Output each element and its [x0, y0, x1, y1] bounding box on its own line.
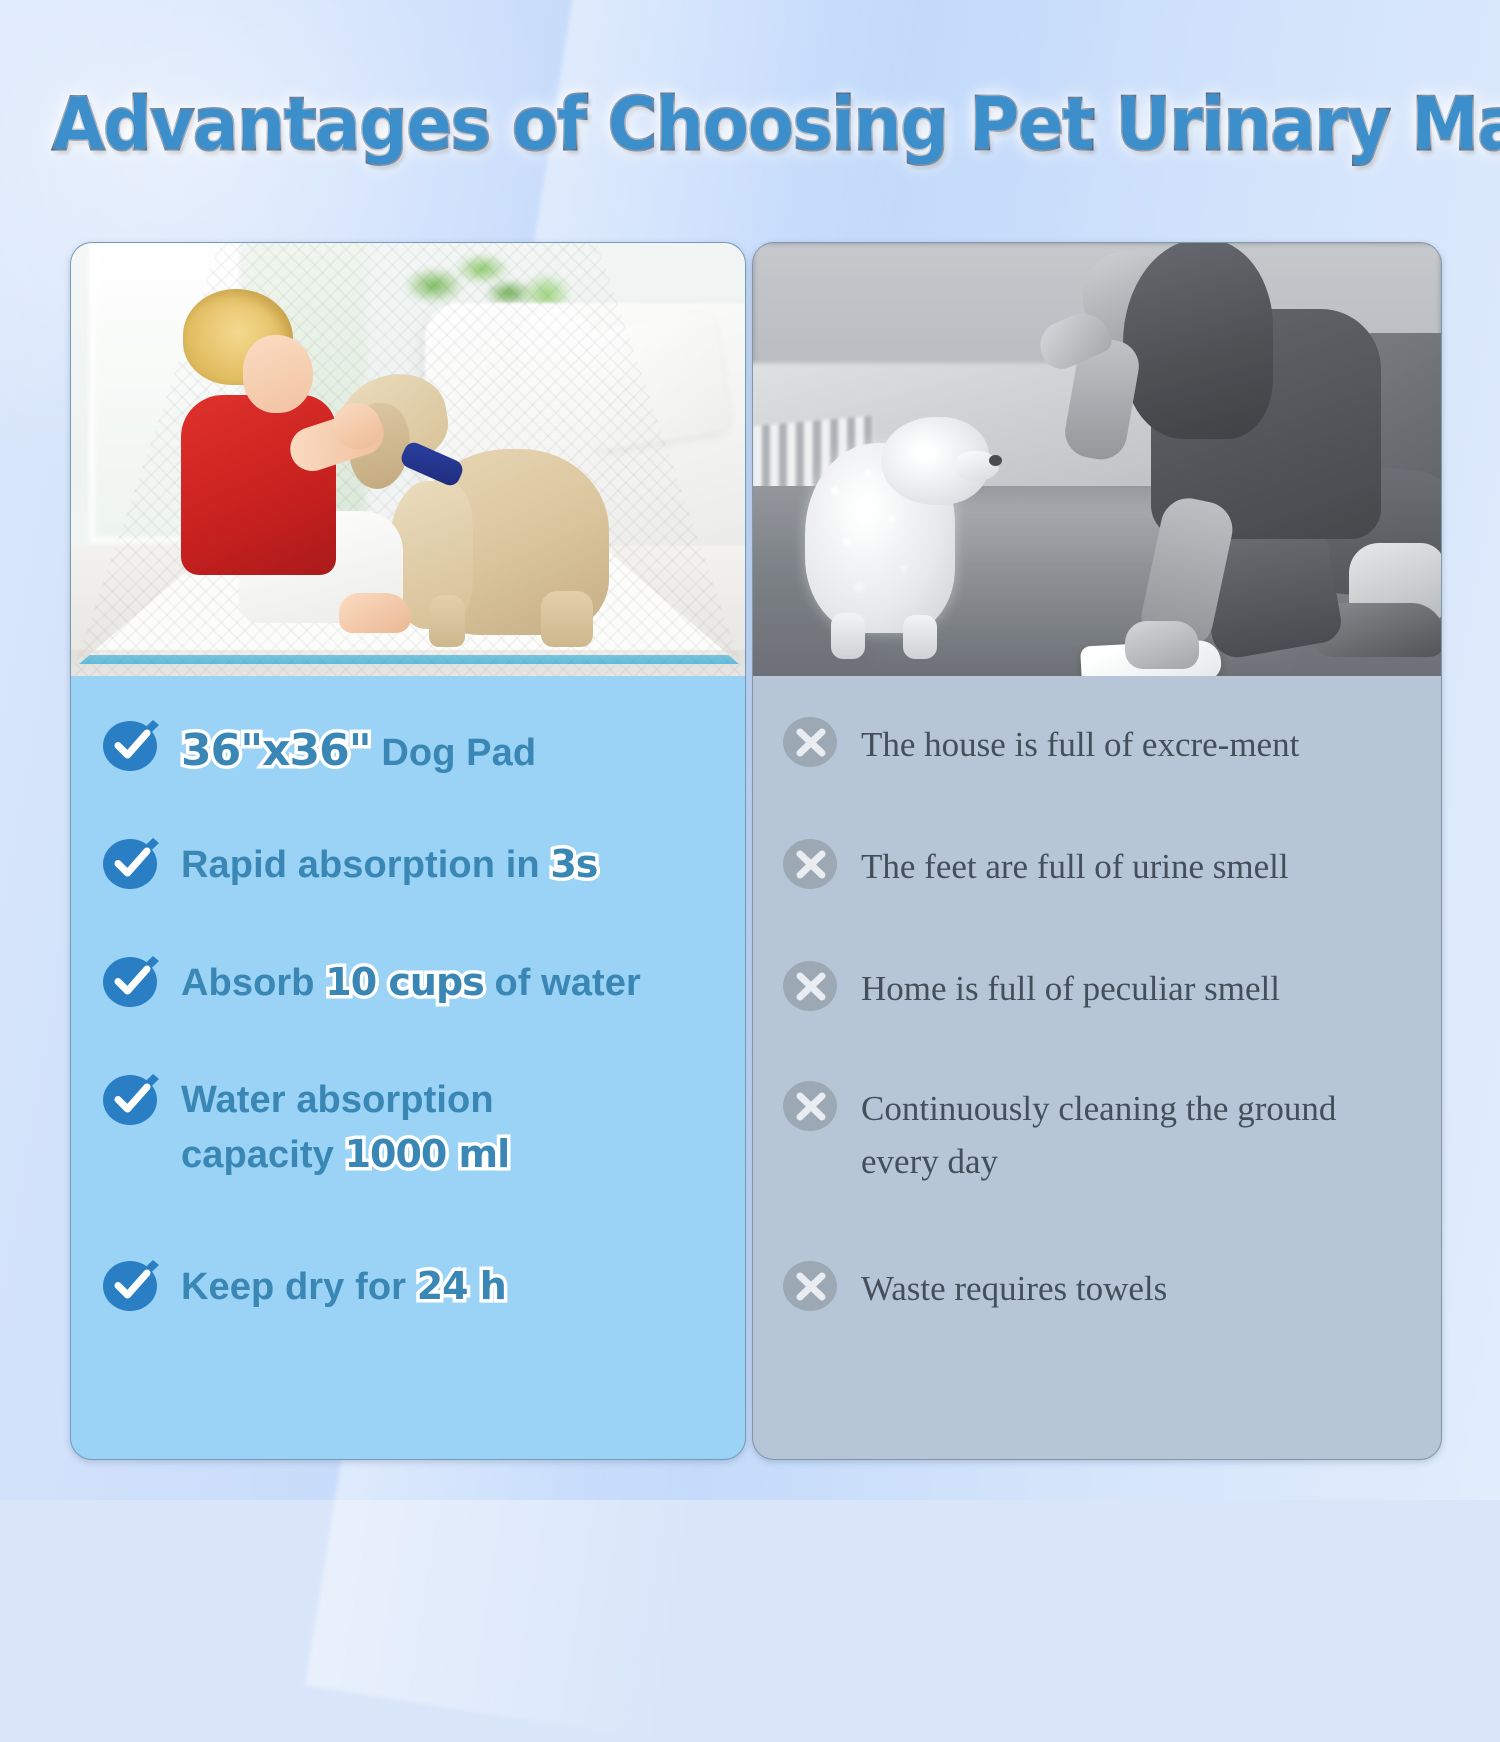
boy-face [243, 335, 313, 413]
cross-circle-icon [781, 1256, 843, 1314]
puppy-hindleg [541, 591, 593, 647]
pros-list-item: Rapid absorption in 3s [101, 834, 735, 893]
cons-list-item: The feet are full of urine smell [781, 834, 1431, 894]
cons-photo [753, 243, 1441, 676]
pros-item-highlight: 1000 ml [345, 1132, 510, 1176]
pros-list-item: Water absorption capacity 1000 ml [101, 1070, 735, 1183]
pros-item-highlight: 24 h [417, 1264, 506, 1308]
woman-wiping-hand [1125, 621, 1199, 669]
cons-item-text: The feet are full of urine smell [861, 834, 1289, 894]
floor-reflection [71, 650, 745, 676]
pros-item-highlight: 10 cups [325, 960, 484, 1004]
pros-item-post: of water [484, 962, 641, 1004]
cons-list-item: Waste requires towels [781, 1256, 1431, 1316]
cons-list-item: Continuously cleaning the ground every d… [781, 1076, 1431, 1188]
cross-circle-icon [781, 956, 843, 1014]
pros-panel: 36"x36" Dog Pad Rapid absorption in 3s [70, 242, 746, 1460]
pros-photo [71, 243, 745, 676]
pros-list-item: Keep dry for 24 h [101, 1256, 735, 1315]
cons-item-text: The house is full of excre-ment [861, 712, 1299, 772]
cross-circle-icon [781, 1076, 843, 1134]
puppy-foreleg [429, 595, 465, 647]
pros-list-item: Absorb 10 cups of water [101, 952, 735, 1011]
cross-circle-icon [781, 834, 843, 892]
pros-item-post: Dog Pad [371, 732, 536, 774]
pros-list-item: 36"x36" Dog Pad [101, 716, 735, 782]
pros-item-text: Rapid absorption in 3s [181, 834, 597, 893]
cons-list: The house is full of excre-ment The feet… [753, 676, 1441, 1459]
pros-item-highlight: 36"x36" [181, 725, 371, 776]
dog-hindleg [903, 615, 937, 659]
page-title: Advantages of Choosing Pet Urinary Mats [53, 82, 1448, 166]
cons-item-text: Continuously cleaning the ground every d… [861, 1076, 1361, 1188]
boy-foot [339, 593, 411, 633]
boy-hand [333, 403, 381, 449]
pros-list: 36"x36" Dog Pad Rapid absorption in 3s [71, 676, 745, 1459]
check-circle-icon [101, 1070, 163, 1128]
pros-item-highlight: 3s [550, 842, 597, 886]
cons-item-text: Home is full of peculiar smell [861, 956, 1280, 1016]
pros-item-text: Water absorption capacity 1000 ml [181, 1070, 611, 1183]
pros-item-text: 36"x36" Dog Pad [181, 716, 536, 782]
cons-list-item: Home is full of peculiar smell [781, 956, 1431, 1016]
pros-item-text: Keep dry for 24 h [181, 1256, 506, 1315]
check-circle-icon [101, 952, 163, 1010]
dog-nose [989, 455, 1002, 466]
cons-panel: The house is full of excre-ment The feet… [752, 242, 1442, 1460]
dog-foreleg [831, 613, 865, 659]
pros-item-pre: Rapid absorption in [181, 844, 550, 886]
woman-hair [1123, 243, 1273, 439]
pros-item-pre: Absorb [181, 962, 325, 1004]
check-circle-icon [101, 716, 163, 774]
check-circle-icon [101, 834, 163, 892]
cross-circle-icon [781, 712, 843, 770]
boy-shirt [181, 395, 336, 575]
check-circle-icon [101, 1256, 163, 1314]
cons-list-item: The house is full of excre-ment [781, 712, 1431, 772]
pros-item-pre: Keep dry for [181, 1266, 417, 1308]
pros-item-text: Absorb 10 cups of water [181, 952, 641, 1011]
cons-item-text: Waste requires towels [861, 1256, 1167, 1316]
